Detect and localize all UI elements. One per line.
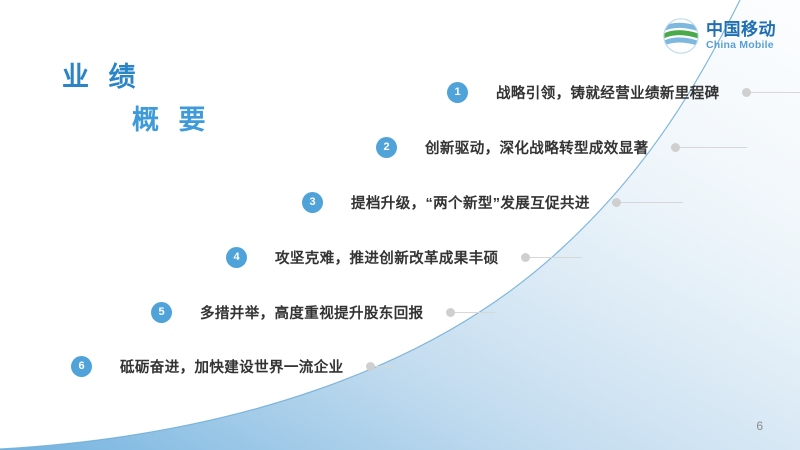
agenda-item-2[interactable]: 2 创新驱动，深化战略转型成效显著 bbox=[376, 134, 747, 160]
connector-line bbox=[680, 147, 747, 148]
agenda-item-6[interactable]: 6 砥砺奋进，加快建设世界一流企业 bbox=[71, 353, 395, 379]
agenda-label-6: 砥砺奋进，加快建设世界一流企业 bbox=[120, 356, 344, 377]
agenda-item-1[interactable]: 1 战略引领，铸就经营业绩新里程碑 bbox=[447, 79, 800, 105]
page-title-line1: 业 绩 bbox=[62, 62, 212, 93]
agenda-label-2: 创新驱动，深化战略转型成效显著 bbox=[425, 137, 649, 158]
agenda-badge-2: 2 bbox=[376, 137, 397, 158]
brand-logo-text: 中国移动 China Mobile bbox=[706, 21, 776, 51]
page-number: 6 bbox=[756, 419, 763, 433]
agenda-connector-2 bbox=[671, 143, 747, 152]
agenda-badge-5: 5 bbox=[151, 302, 172, 323]
agenda-label-4: 攻坚克难，推进创新改革成果丰硕 bbox=[275, 247, 499, 268]
agenda-connector-4 bbox=[521, 253, 582, 262]
connector-line bbox=[375, 366, 395, 367]
connector-dot-icon bbox=[742, 88, 751, 97]
agenda-connector-3 bbox=[612, 198, 683, 207]
connector-line bbox=[530, 257, 582, 258]
agenda-item-5[interactable]: 5 多措并举，高度重视提升股东回报 bbox=[151, 299, 495, 325]
connector-line bbox=[751, 92, 800, 93]
connector-line bbox=[621, 202, 683, 203]
connector-dot-icon bbox=[671, 143, 680, 152]
agenda-connector-1 bbox=[742, 88, 800, 97]
connector-dot-icon bbox=[446, 308, 455, 317]
page-title-line2: 概 要 bbox=[132, 105, 212, 136]
brand-name-cn: 中国移动 bbox=[706, 21, 776, 38]
agenda-badge-1: 1 bbox=[447, 82, 468, 103]
agenda-connector-5 bbox=[446, 308, 495, 317]
connector-dot-icon bbox=[612, 198, 621, 207]
brand-logo: 中国移动 China Mobile bbox=[663, 18, 776, 54]
agenda-badge-3: 3 bbox=[302, 192, 323, 213]
agenda-badge-4: 4 bbox=[226, 247, 247, 268]
agenda-item-4[interactable]: 4 攻坚克难，推进创新改革成果丰硕 bbox=[226, 244, 582, 270]
connector-line bbox=[455, 312, 495, 313]
brand-name-en: China Mobile bbox=[706, 40, 776, 51]
slide-canvas: 中国移动 China Mobile 业 绩 概 要 1 战略引领，铸就经营业绩新… bbox=[0, 0, 800, 450]
agenda-label-3: 提档升级，“两个新型”发展互促共进 bbox=[351, 192, 590, 213]
agenda-label-5: 多措并举，高度重视提升股东回报 bbox=[200, 302, 424, 323]
connector-dot-icon bbox=[366, 362, 375, 371]
agenda-connector-6 bbox=[366, 362, 395, 371]
agenda-label-1: 战略引领，铸就经营业绩新里程碑 bbox=[496, 82, 720, 103]
china-mobile-swirl-logo-icon bbox=[663, 18, 699, 54]
agenda-item-3[interactable]: 3 提档升级，“两个新型”发展互促共进 bbox=[302, 189, 683, 215]
connector-dot-icon bbox=[521, 253, 530, 262]
page-title: 业 绩 概 要 bbox=[62, 62, 212, 136]
agenda-badge-6: 6 bbox=[71, 356, 92, 377]
